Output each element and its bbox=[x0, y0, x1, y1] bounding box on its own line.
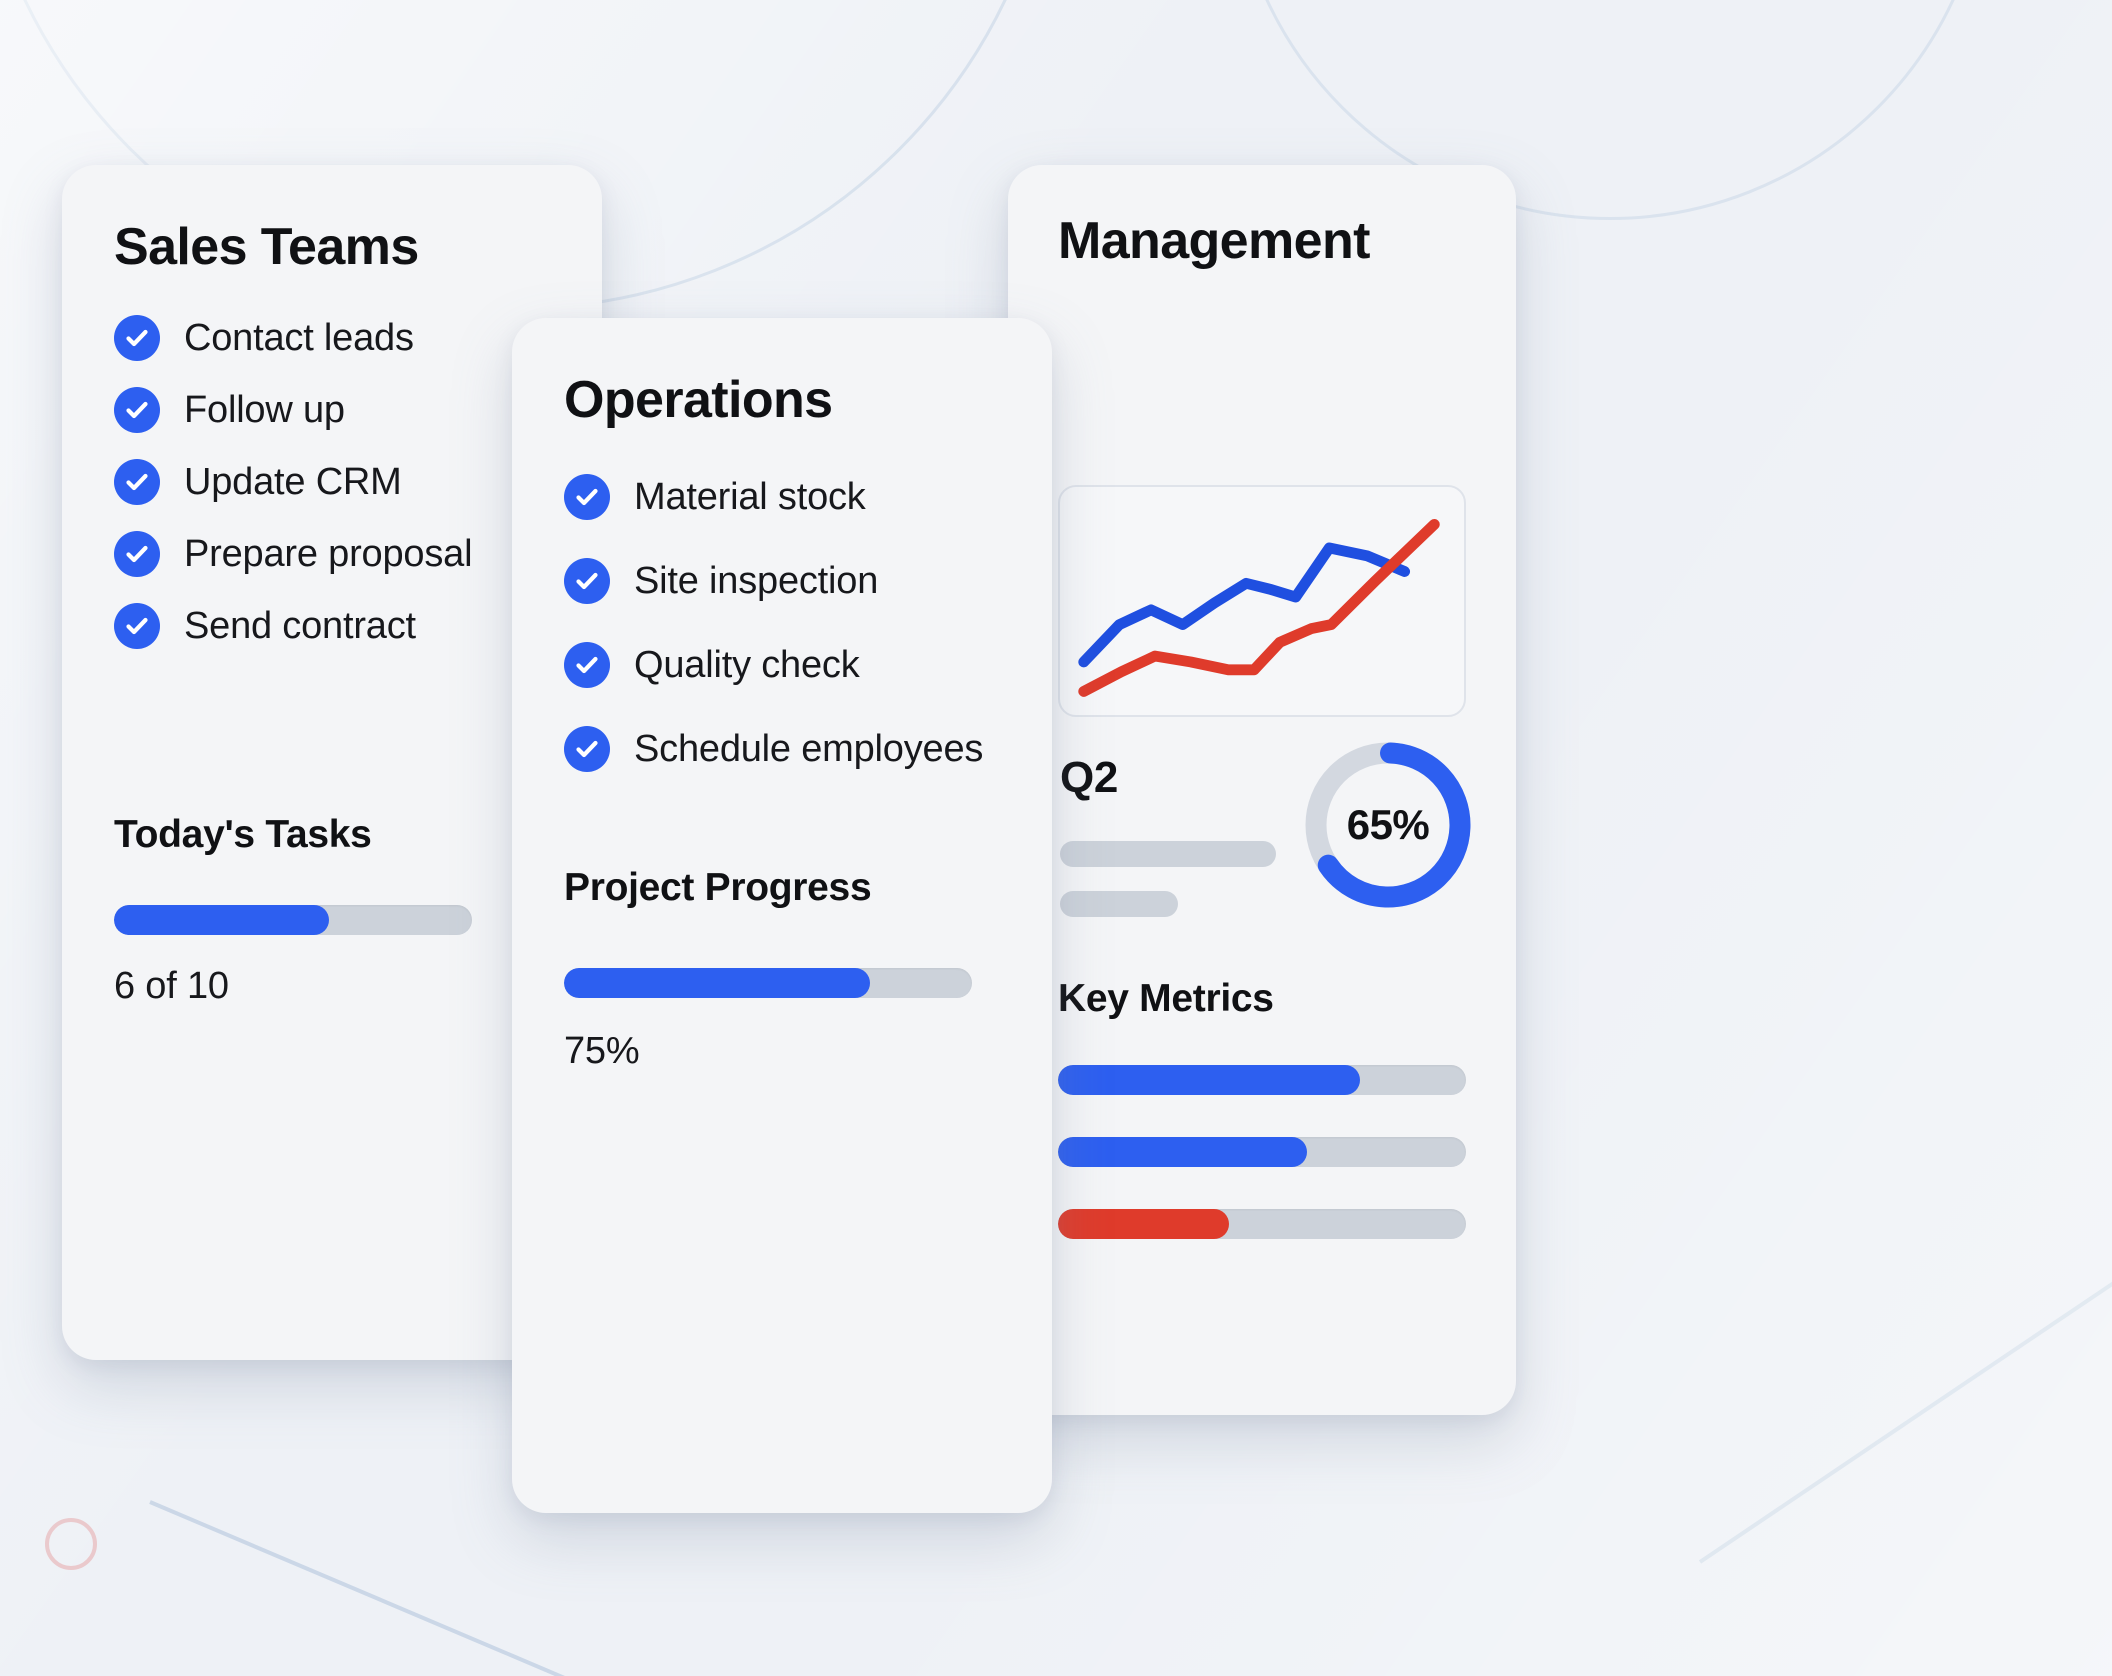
key-metric-row[interactable] bbox=[1058, 1065, 1466, 1095]
list-item-label: Schedule employees bbox=[634, 728, 983, 771]
todays-tasks-count: 6 of 10 bbox=[114, 965, 229, 1008]
operations-checklist: Material stock Site inspection Quality c… bbox=[564, 474, 1052, 772]
list-item-label: Update CRM bbox=[184, 461, 402, 504]
list-item-label: Follow up bbox=[184, 389, 345, 432]
background-circle-small bbox=[45, 1518, 97, 1570]
completion-donut-chart[interactable]: 65% bbox=[1298, 735, 1478, 915]
todays-tasks-heading: Today's Tasks bbox=[114, 813, 372, 857]
trend-line-chart-svg bbox=[1060, 487, 1464, 715]
key-metric-row[interactable] bbox=[1058, 1137, 1466, 1167]
key-metrics-list bbox=[1058, 1065, 1466, 1281]
placeholder-bar-1 bbox=[1060, 841, 1276, 867]
list-item-label: Send contract bbox=[184, 605, 416, 648]
operations-card: Operations Material stock Site inspectio… bbox=[512, 318, 1052, 1513]
check-icon bbox=[564, 726, 610, 772]
management-card: Management Q2 65% Key Metrics bbox=[1008, 165, 1516, 1415]
trend-line-chart[interactable] bbox=[1058, 485, 1466, 717]
key-metric-row[interactable] bbox=[1058, 1209, 1466, 1239]
key-metric-fill-3 bbox=[1058, 1209, 1229, 1239]
check-icon bbox=[564, 558, 610, 604]
donut-percent-label: 65% bbox=[1298, 735, 1478, 915]
list-item-label: Contact leads bbox=[184, 317, 414, 360]
check-icon bbox=[564, 642, 610, 688]
background-diagonal-line-right bbox=[1699, 1214, 2112, 1564]
key-metrics-heading: Key Metrics bbox=[1058, 977, 1274, 1021]
chart-series-red bbox=[1084, 524, 1435, 691]
list-item-label: Material stock bbox=[634, 476, 866, 519]
check-icon bbox=[114, 315, 160, 361]
list-item-label: Prepare proposal bbox=[184, 533, 472, 576]
operations-title: Operations bbox=[564, 370, 1052, 430]
check-icon bbox=[114, 387, 160, 433]
key-metric-bar-1[interactable] bbox=[1058, 1065, 1466, 1095]
check-icon bbox=[114, 603, 160, 649]
list-item-label: Site inspection bbox=[634, 560, 878, 603]
quarter-label: Q2 bbox=[1060, 753, 1118, 803]
list-item[interactable]: Site inspection bbox=[564, 558, 1052, 604]
list-item-label: Quality check bbox=[634, 644, 860, 687]
check-icon bbox=[114, 531, 160, 577]
project-progress-percent: 75% bbox=[564, 1030, 639, 1073]
check-icon bbox=[564, 474, 610, 520]
placeholder-bar-2 bbox=[1060, 891, 1178, 917]
key-metric-bar-2[interactable] bbox=[1058, 1137, 1466, 1167]
sales-teams-title: Sales Teams bbox=[114, 217, 602, 277]
key-metric-fill-2 bbox=[1058, 1137, 1307, 1167]
project-progress-heading: Project Progress bbox=[564, 866, 871, 910]
todays-tasks-progress-fill bbox=[114, 905, 329, 935]
project-progress-bar[interactable] bbox=[564, 968, 972, 998]
check-icon bbox=[114, 459, 160, 505]
list-item[interactable]: Quality check bbox=[564, 642, 1052, 688]
project-progress-fill bbox=[564, 968, 870, 998]
background-diagonal-line bbox=[149, 1500, 869, 1676]
list-item[interactable]: Material stock bbox=[564, 474, 1052, 520]
management-title: Management bbox=[1058, 211, 1516, 271]
key-metric-bar-3[interactable] bbox=[1058, 1209, 1466, 1239]
key-metric-fill-1 bbox=[1058, 1065, 1360, 1095]
list-item[interactable]: Schedule employees bbox=[564, 726, 1052, 772]
todays-tasks-progress-bar[interactable] bbox=[114, 905, 472, 935]
